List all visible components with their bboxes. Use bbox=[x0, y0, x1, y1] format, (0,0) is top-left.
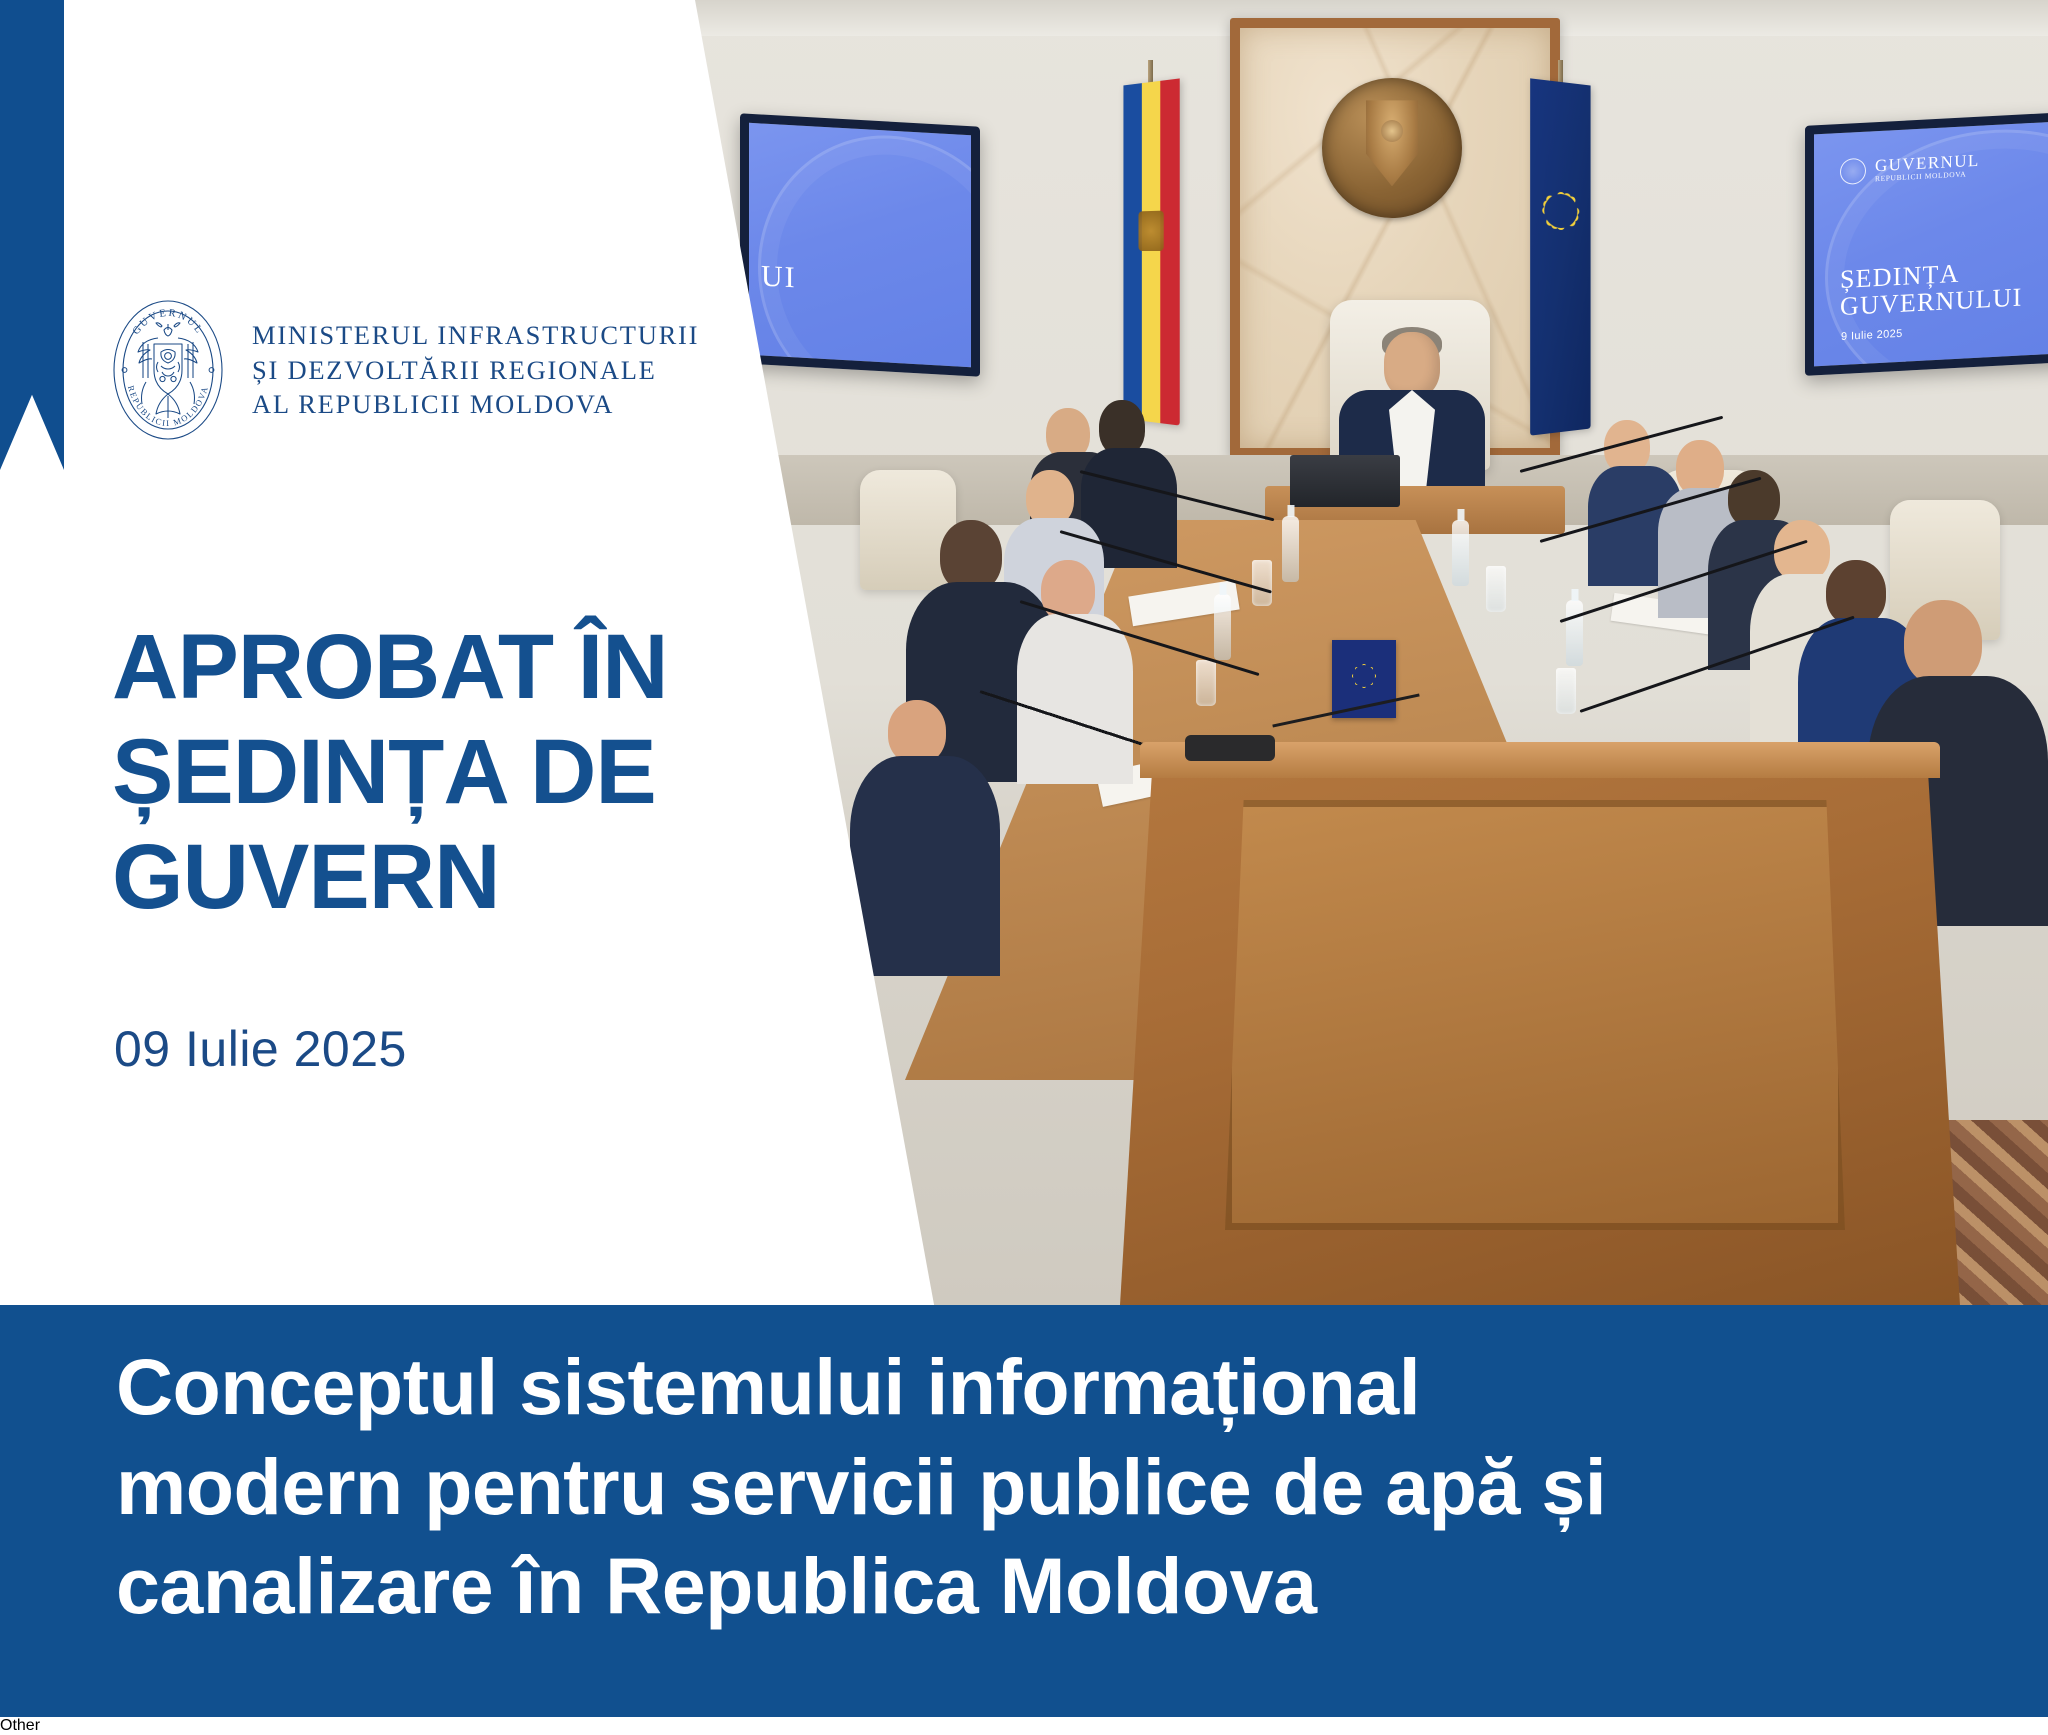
water-glass bbox=[1252, 560, 1272, 606]
page-title-line: GUVERN bbox=[112, 825, 668, 930]
person-torso bbox=[850, 756, 1000, 976]
bottom-banner: Conceptul sistemului informațional moder… bbox=[0, 1305, 2048, 1717]
eu-stars bbox=[1544, 193, 1577, 228]
ministry-name: MINISTERUL INFRASTRUCTURII ȘI DEZVOLTĂRI… bbox=[252, 318, 699, 421]
banner-title-line: canalizare în Republica Moldova bbox=[116, 1536, 1606, 1636]
page-title-line: APROBAT ÎN bbox=[112, 615, 668, 720]
water-bottle bbox=[1282, 516, 1299, 582]
person-head bbox=[1826, 560, 1886, 626]
water-glass bbox=[1196, 660, 1216, 706]
moldova-coat-of-arms-seal-icon: GUVERNUL REPUBLICII MOLDOVA bbox=[112, 300, 224, 440]
moldova-state-emblem-medallion-icon bbox=[1322, 78, 1462, 218]
ministry-name-line: MINISTERUL INFRASTRUCTURII bbox=[252, 318, 699, 352]
screen-seal-watermark bbox=[758, 128, 980, 377]
laptop bbox=[1290, 455, 1400, 507]
eu-stars bbox=[1353, 665, 1375, 687]
person-head bbox=[1041, 560, 1095, 622]
podium-front-panel bbox=[1225, 800, 1845, 1230]
banner-title: Conceptul sistemului informațional moder… bbox=[116, 1337, 1606, 1636]
podium-microphone bbox=[1185, 735, 1275, 761]
banner-title-line: modern pentru servicii publice de apă și bbox=[116, 1437, 1606, 1537]
flag-european-union-icon bbox=[1530, 78, 1590, 435]
page-title-line: ȘEDINȚA DE bbox=[112, 720, 668, 825]
social-card-canvas: UI GUVERNULREPUBLICII MOLDOVA ȘEDINȚA GU… bbox=[0, 0, 2048, 1717]
session-date: 09 Iulie 2025 bbox=[114, 1020, 407, 1078]
government-seal-icon bbox=[1840, 158, 1866, 185]
ministry-name-line: AL REPUBLICII MOLDOVA bbox=[252, 387, 699, 421]
wall-screen-left: UI bbox=[740, 113, 980, 376]
person-head bbox=[1904, 600, 1982, 686]
screen-title: ȘEDINȚA GUVERNULUI bbox=[1840, 256, 2022, 321]
screen-left-visible-text: UI bbox=[761, 259, 797, 295]
page-title: APROBAT ÎN ȘEDINȚA DE GUVERN bbox=[112, 615, 668, 930]
water-glass bbox=[1486, 566, 1506, 612]
screen-org-name: GUVERNULREPUBLICII MOLDOVA bbox=[1875, 152, 1980, 183]
water-glass bbox=[1556, 668, 1576, 714]
banner-title-line: Conceptul sistemului informațional bbox=[116, 1337, 1606, 1437]
ministry-logo-block: GUVERNUL REPUBLICII MOLDOVA bbox=[112, 300, 699, 440]
person-head bbox=[1384, 332, 1440, 398]
wall-screen-right: GUVERNULREPUBLICII MOLDOVA ȘEDINȚA GUVER… bbox=[1805, 110, 2048, 376]
person-head bbox=[1774, 520, 1830, 582]
water-bottle bbox=[1214, 594, 1231, 660]
ministry-name-line: ȘI DEZVOLTĂRII REGIONALE bbox=[252, 353, 699, 387]
flag-moldova-icon bbox=[1123, 78, 1179, 425]
svg-text:GUVERNUL: GUVERNUL bbox=[131, 308, 205, 337]
person-head bbox=[888, 700, 946, 764]
water-bottle bbox=[1566, 600, 1583, 666]
person-torso bbox=[1017, 614, 1133, 784]
water-bottle bbox=[1452, 520, 1469, 586]
